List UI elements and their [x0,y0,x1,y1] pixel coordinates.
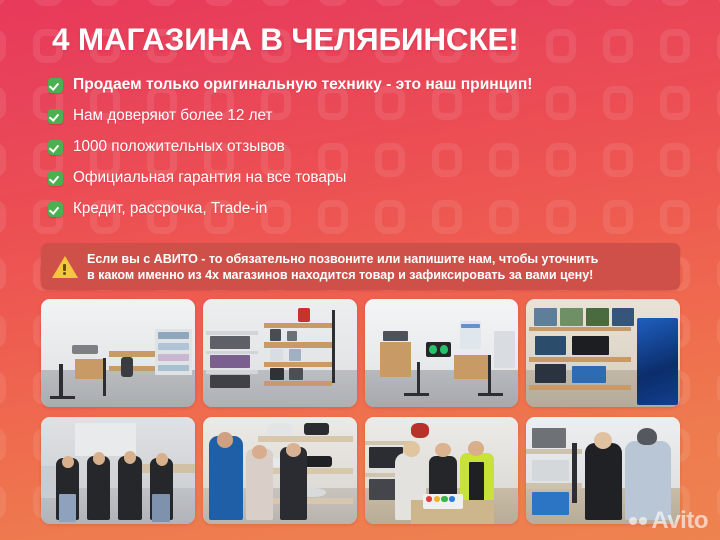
list-item: Продаем только оригинальную технику - эт… [48,75,688,106]
gallery-photo[interactable] [41,417,195,524]
list-item-label: Продаем только оригинальную технику - эт… [73,75,532,94]
feature-list: Продаем только оригинальную технику - эт… [48,75,688,230]
gallery-photo[interactable] [203,417,357,524]
list-item: 1000 положительных отзывов [48,137,688,168]
check-icon [48,140,63,155]
gallery-photo[interactable] [526,417,680,524]
warning-line-2: в каком именно из 4х магазинов находится… [87,268,593,282]
gallery-photo[interactable] [203,299,357,407]
warning-text: Если вы с АВИТО - то обязательно позвони… [87,251,598,283]
gallery-photo[interactable] [365,299,519,407]
photo-row-top [41,299,680,407]
warning-callout: Если вы с АВИТО - то обязательно позвони… [41,243,680,290]
list-item-label: Официальная гарантия на все товары [73,168,346,187]
photo-row-bottom [41,417,680,524]
check-icon [48,171,63,186]
list-item: Официальная гарантия на все товары [48,168,688,199]
warning-line-1: Если вы с АВИТО - то обязательно позвони… [87,252,598,266]
check-icon [48,202,63,217]
list-item-label: Нам доверяют более 12 лет [73,106,273,125]
warning-triangle-icon [52,255,78,279]
list-item: Нам доверяют более 12 лет [48,106,688,137]
list-item: Кредит, рассрочка, Trade-in [48,199,688,230]
gallery-photo[interactable] [41,299,195,407]
check-icon [48,109,63,124]
gallery-photo[interactable] [365,417,519,524]
check-icon [48,78,63,93]
page-title: 4 МАГАЗИНА В ЧЕЛЯБИНСКЕ! [52,23,692,56]
gallery-photo[interactable] [526,299,680,407]
list-item-label: 1000 положительных отзывов [73,137,285,156]
list-item-label: Кредит, рассрочка, Trade-in [73,199,267,218]
